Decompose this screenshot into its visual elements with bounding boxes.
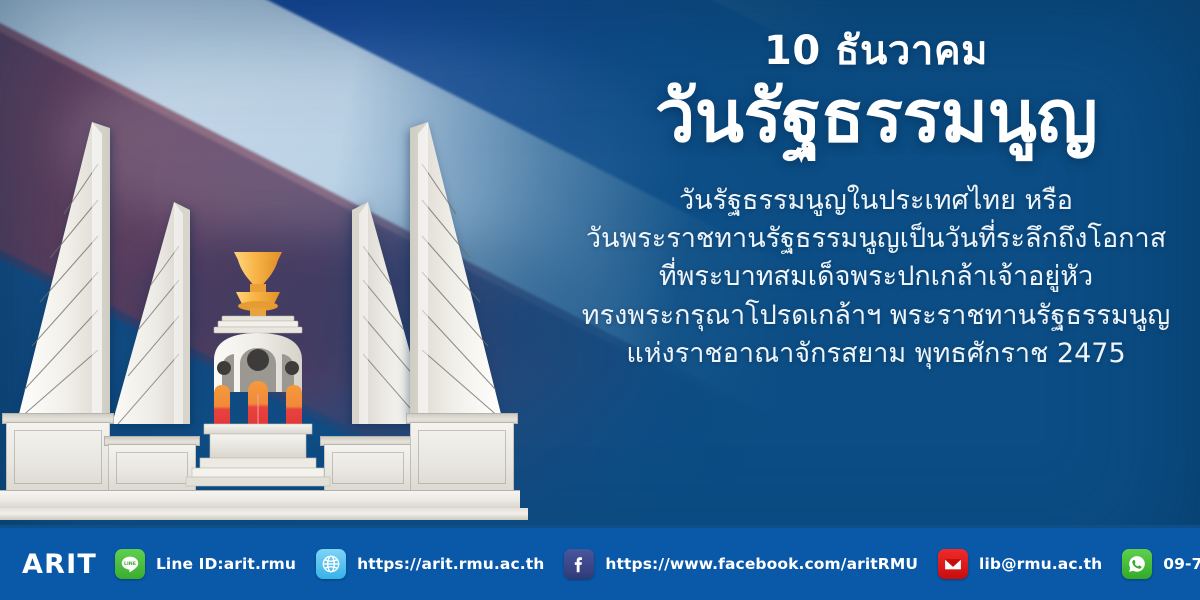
constitution-day-banner: 10 ธันวาคม วันรัฐธรรมนูญ วันรัฐธรรมนูญใน… (0, 0, 1200, 600)
contact-email-label: lib@rmu.ac.th (979, 555, 1102, 573)
contact-email[interactable]: lib@rmu.ac.th (938, 549, 1102, 579)
date-line: 10 ธันวาคม (566, 28, 1186, 74)
contact-line-label: Line ID:arit.rmu (156, 555, 296, 573)
contact-facebook-label: https://www.facebook.com/aritRMU (605, 555, 918, 573)
email-icon[interactable] (938, 549, 968, 579)
whatsapp-icon[interactable] (1122, 549, 1152, 579)
contact-facebook[interactable]: https://www.facebook.com/aritRMU (564, 549, 918, 579)
svg-text:LINE: LINE (124, 561, 136, 567)
monument-base-lip (0, 508, 528, 520)
description-line: แห่งราชอาณาจักรสยาม พุทธศักราช 2475 (566, 335, 1186, 373)
description-line: ที่พระบาทสมเด็จพระปกเกล้าเจ้าอยู่หัว (566, 258, 1186, 296)
contact-line[interactable]: LINE Line ID:arit.rmu (115, 549, 296, 579)
description-line: วันพระราชทานรัฐธรรมนูญเป็นวันที่ระลึกถึง… (566, 220, 1186, 258)
contact-website[interactable]: https://arit.rmu.ac.th (316, 549, 544, 579)
description-line: ทรงพระกรุณาโปรดเกล้าฯ พระราชทานรัฐธรรมนู… (566, 297, 1186, 335)
line-icon[interactable]: LINE (115, 549, 145, 579)
page-title: วันรัฐธรรมนูญ (566, 78, 1186, 156)
banner-content: 10 ธันวาคม วันรัฐธรรมนูญ วันรัฐธรรมนูญใน… (566, 28, 1186, 373)
monument-plinth-right (410, 422, 514, 492)
democracy-monument-illustration (0, 100, 540, 520)
contact-phone-label: 09-7309-5526 (1163, 555, 1200, 573)
monument-plinth-left (6, 422, 110, 492)
globe-icon[interactable] (316, 549, 346, 579)
contact-phone[interactable]: 09-7309-5526 (1122, 549, 1200, 579)
contact-website-label: https://arit.rmu.ac.th (357, 555, 544, 573)
monument-central-turret (178, 242, 338, 492)
contact-footer: ARIT LINE Line ID:arit.rmu (0, 528, 1200, 600)
facebook-icon[interactable] (564, 549, 594, 579)
monument-wing-right-outer (374, 118, 514, 448)
description-line: วันรัฐธรรมนูญในประเทศไทย หรือ (566, 182, 1186, 220)
arit-logo: ARIT (22, 549, 97, 580)
description-block: วันรัฐธรรมนูญในประเทศไทย หรือ วันพระราชท… (566, 182, 1186, 374)
